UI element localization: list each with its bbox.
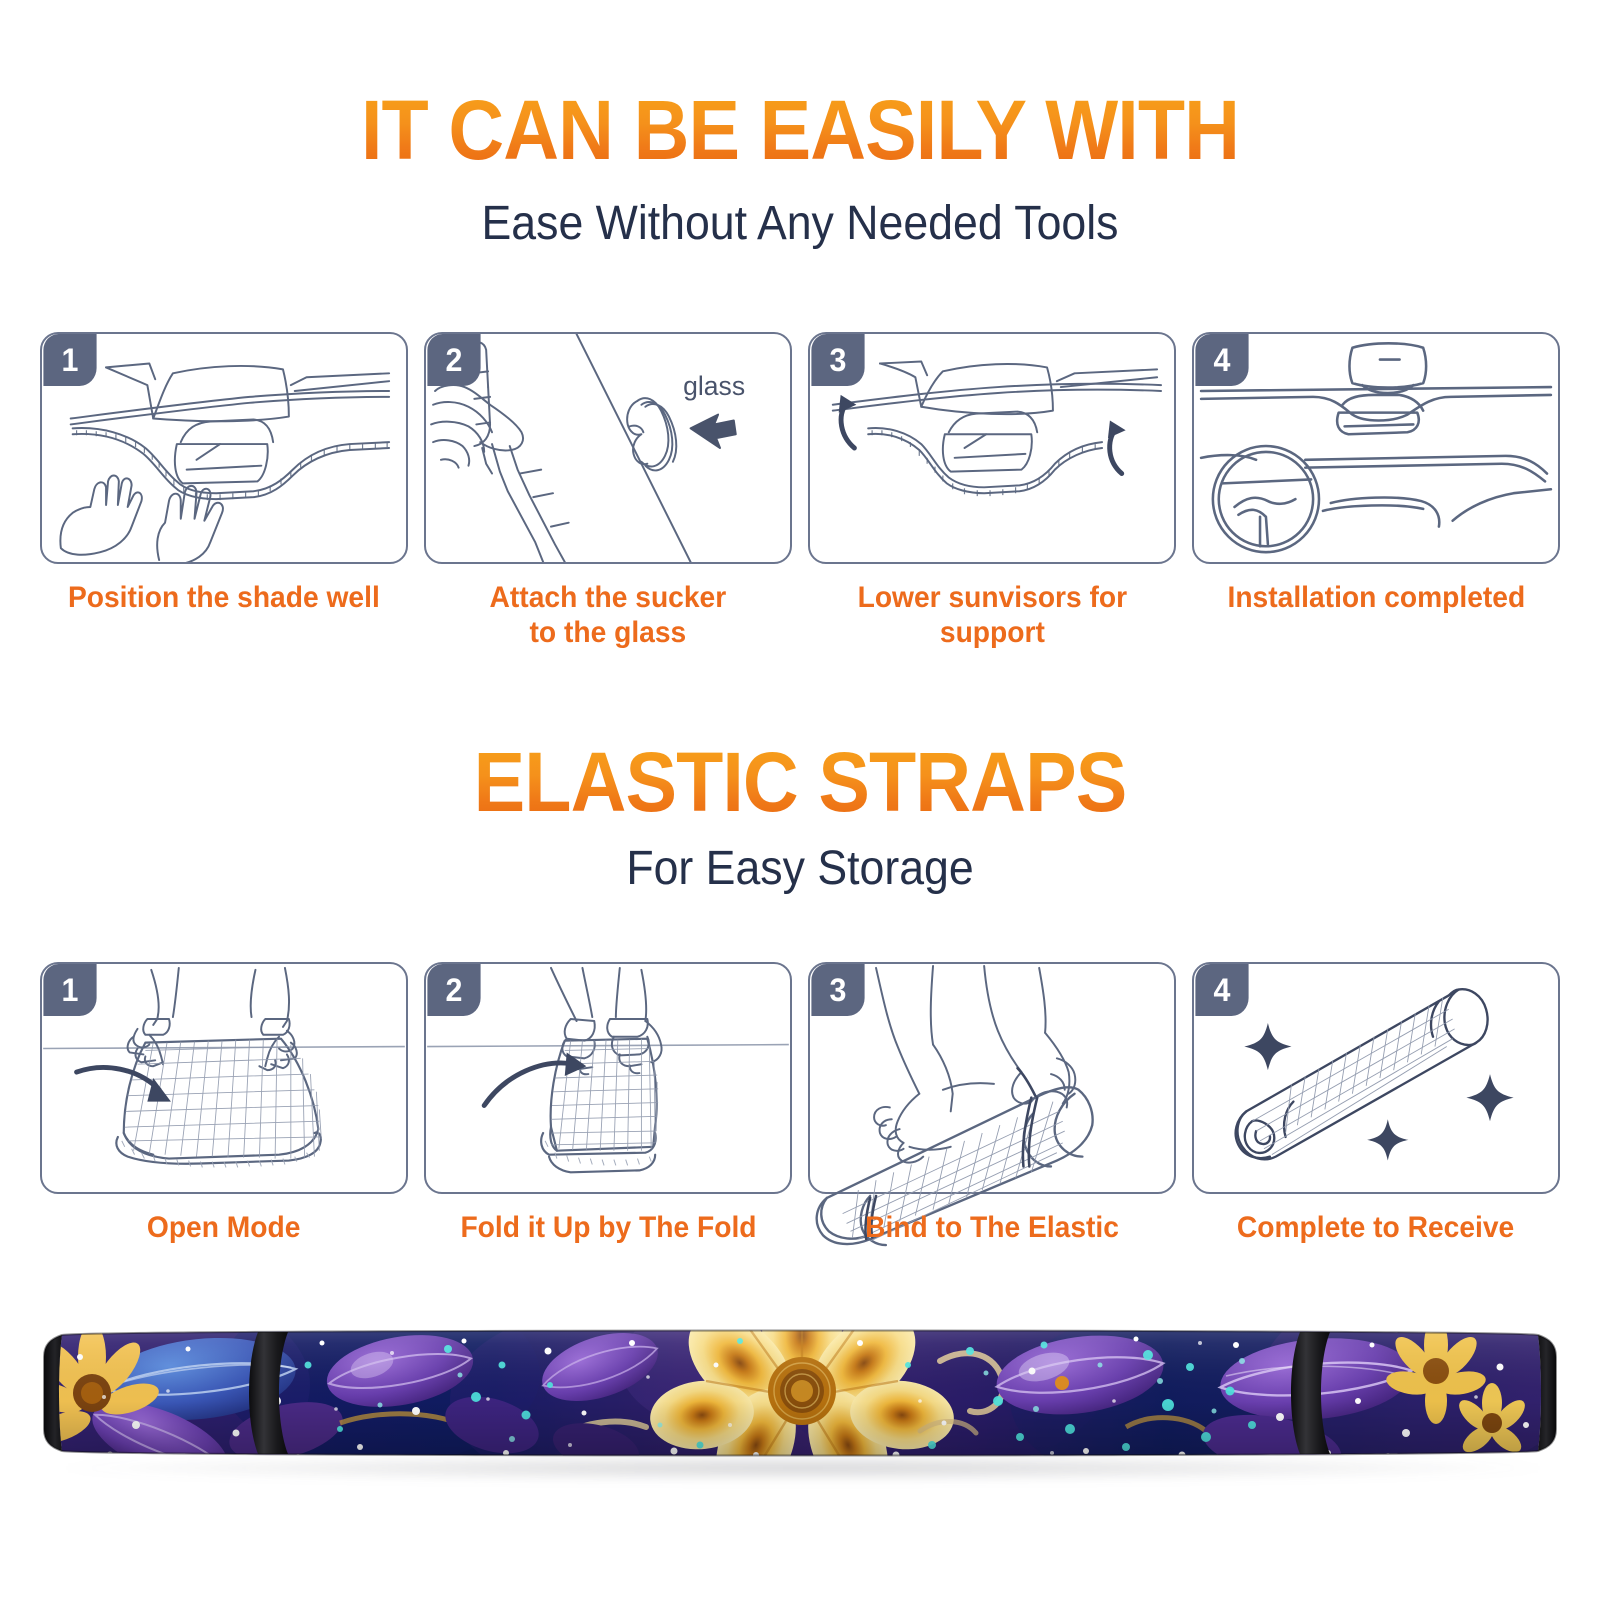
step-card-install-4: 4: [1192, 332, 1560, 651]
glass-label: glass: [683, 371, 745, 401]
section-2-subtitle: For Easy Storage: [56, 843, 1544, 896]
step-card-storage-1: 1: [40, 962, 408, 1245]
section-2-title: ELASTIC STRAPS: [64, 740, 1536, 824]
step-number-badge: 4: [1195, 964, 1248, 1016]
step-caption: Position the shade well: [68, 580, 380, 615]
step-card-install-1: 1: [40, 332, 408, 651]
step-number-badge: 2: [427, 964, 480, 1016]
step-panel-4: 4: [1192, 332, 1560, 564]
installation-steps-grid: 1: [40, 332, 1560, 651]
step-card-storage-3: 3: [808, 962, 1176, 1245]
step-number-badge: 4: [1195, 334, 1248, 386]
storage-panel-4: 4: [1192, 962, 1560, 1194]
step-caption: Bind to The Elastic: [865, 1210, 1119, 1245]
step-card-install-3: 3: [808, 332, 1176, 651]
step-caption: Lower sunvisors for support: [857, 580, 1127, 651]
step-caption: Open Mode: [147, 1210, 301, 1245]
step-caption: Attach the sucker to the glass: [490, 580, 727, 651]
step-card-install-2: 2: [424, 332, 792, 651]
step-number-badge: 3: [811, 334, 864, 386]
storage-steps-grid: 1: [40, 962, 1560, 1245]
step-number-badge: 1: [43, 334, 96, 386]
section-1-subtitle: Ease Without Any Needed Tools: [56, 198, 1544, 251]
rolled-sunshade-graphic: [40, 1305, 1560, 1480]
storage-panel-1: 1: [40, 962, 408, 1194]
step-panel-3: 3: [808, 332, 1176, 564]
step-caption: Complete to Receive: [1237, 1210, 1514, 1245]
section-2-subheading-wrap: For Easy Storage: [0, 843, 1600, 896]
step-number-badge: 3: [811, 964, 864, 1016]
step-panel-1: 1: [40, 332, 408, 564]
step-card-storage-2: 2: [424, 962, 792, 1245]
storage-panel-2: 2: [424, 962, 792, 1194]
step-caption: Fold it Up by The Fold: [460, 1210, 756, 1245]
product-infographic: IT CAN BE EASILY WITH Ease Without Any N…: [0, 0, 1600, 1600]
step-caption: Installation completed: [1227, 580, 1525, 615]
storage-panel-3: 3: [808, 962, 1176, 1194]
section-2-heading: ELASTIC STRAPS: [0, 740, 1600, 824]
section-1-subheading-wrap: Ease Without Any Needed Tools: [0, 198, 1600, 251]
section-1-heading: IT CAN BE EASILY WITH: [0, 88, 1600, 172]
step-number-badge: 1: [43, 964, 96, 1016]
step-panel-2: 2: [424, 332, 792, 564]
step-card-storage-4: 4: [1192, 962, 1560, 1245]
section-1-title: IT CAN BE EASILY WITH: [64, 88, 1536, 172]
step-number-badge: 2: [427, 334, 480, 386]
product-roll-photo: [40, 1305, 1560, 1505]
